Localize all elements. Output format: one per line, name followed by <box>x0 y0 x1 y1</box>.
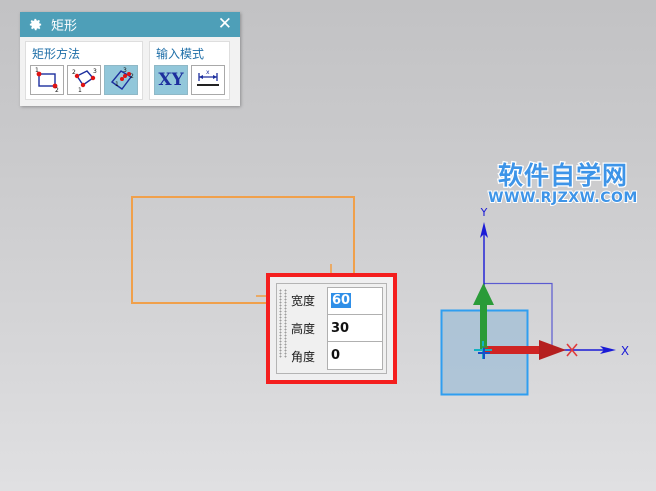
y-axis-arrowhead <box>480 222 488 238</box>
dialog-titlebar[interactable]: 矩形 ✕ <box>20 12 240 37</box>
input-angle-value: 0 <box>331 348 340 363</box>
label-height: 高度 <box>290 315 327 343</box>
field-row-width: 宽度 60 <box>290 287 383 315</box>
csys-x-arrow <box>484 340 566 360</box>
group-label-input-mode: 输入模式 <box>154 44 225 65</box>
svg-text:3: 3 <box>93 68 97 75</box>
x-axis-label: X <box>621 344 629 358</box>
xy-text-icon: XY <box>158 70 183 90</box>
input-mode-xy[interactable]: XY <box>154 65 188 95</box>
rect-method-by-2-corners[interactable]: 1 2 <box>30 65 64 95</box>
label-width: 宽度 <box>290 287 327 315</box>
rectangle-2-point-icon: 1 2 <box>32 67 62 93</box>
close-icon[interactable]: ✕ <box>216 16 234 33</box>
gear-icon <box>28 17 43 32</box>
dialog-body: 矩形方法 1 2 <box>20 37 240 106</box>
rectangle-3-point-icon: 2 1 3 <box>69 67 99 93</box>
origin-marker <box>474 341 492 359</box>
rect-method-by-3-points[interactable]: 2 1 3 <box>67 65 101 95</box>
csys-y-arrow <box>473 283 494 351</box>
dialog-title: 矩形 <box>51 15 216 34</box>
field-row-angle: 角度 0 <box>290 342 383 370</box>
svg-text:2: 2 <box>72 69 76 76</box>
dimension-icon: x <box>193 67 223 93</box>
x-cross-marker <box>567 344 577 356</box>
input-mode-button-row: XY x <box>154 65 225 95</box>
y-axis-label: Y <box>480 206 488 219</box>
input-height-value: 30 <box>331 321 349 336</box>
field-row-height: 高度 30 <box>290 315 383 343</box>
watermark: 软件自学网 WWW.RJZXW.COM <box>478 162 648 206</box>
sketch-square <box>442 311 528 395</box>
watermark-cn: 软件自学网 <box>478 162 648 190</box>
svg-text:x: x <box>206 69 210 76</box>
input-width-value: 60 <box>331 293 351 308</box>
input-angle[interactable]: 0 <box>327 342 383 370</box>
inline-input-panel: 宽度 60 高度 30 角度 0 <box>276 283 387 374</box>
x-axis-arrowhead <box>600 346 616 354</box>
application-window: Y X <box>0 0 656 491</box>
construction-rectangle <box>484 284 552 351</box>
svg-text:1: 1 <box>115 81 119 88</box>
svg-text:1: 1 <box>78 87 82 93</box>
rect-method-from-center[interactable]: 1 2 3 <box>104 65 138 95</box>
input-width[interactable]: 60 <box>327 287 383 315</box>
rectangle-center-icon: 1 2 3 <box>106 67 136 93</box>
drag-grip-handle[interactable] <box>279 287 288 370</box>
svg-text:2: 2 <box>130 73 134 80</box>
input-height[interactable]: 30 <box>327 315 383 343</box>
group-label-rect-method: 矩形方法 <box>30 44 138 65</box>
rect-method-button-row: 1 2 2 1 3 <box>30 65 138 95</box>
group-input-mode: 输入模式 XY x <box>149 41 230 100</box>
inline-input-fields: 宽度 60 高度 30 角度 0 <box>290 287 383 370</box>
rectangle-dialog: 矩形 ✕ 矩形方法 1 2 <box>20 12 240 106</box>
svg-text:2: 2 <box>55 87 59 93</box>
label-angle: 角度 <box>290 342 327 370</box>
svg-text:1: 1 <box>35 67 39 74</box>
svg-text:3: 3 <box>123 67 127 74</box>
inline-input-annotation: 宽度 60 高度 30 角度 0 <box>266 273 397 384</box>
watermark-en: WWW.RJZXW.COM <box>478 190 648 206</box>
input-mode-parameter[interactable]: x <box>191 65 225 95</box>
group-rect-method: 矩形方法 1 2 <box>25 41 143 100</box>
